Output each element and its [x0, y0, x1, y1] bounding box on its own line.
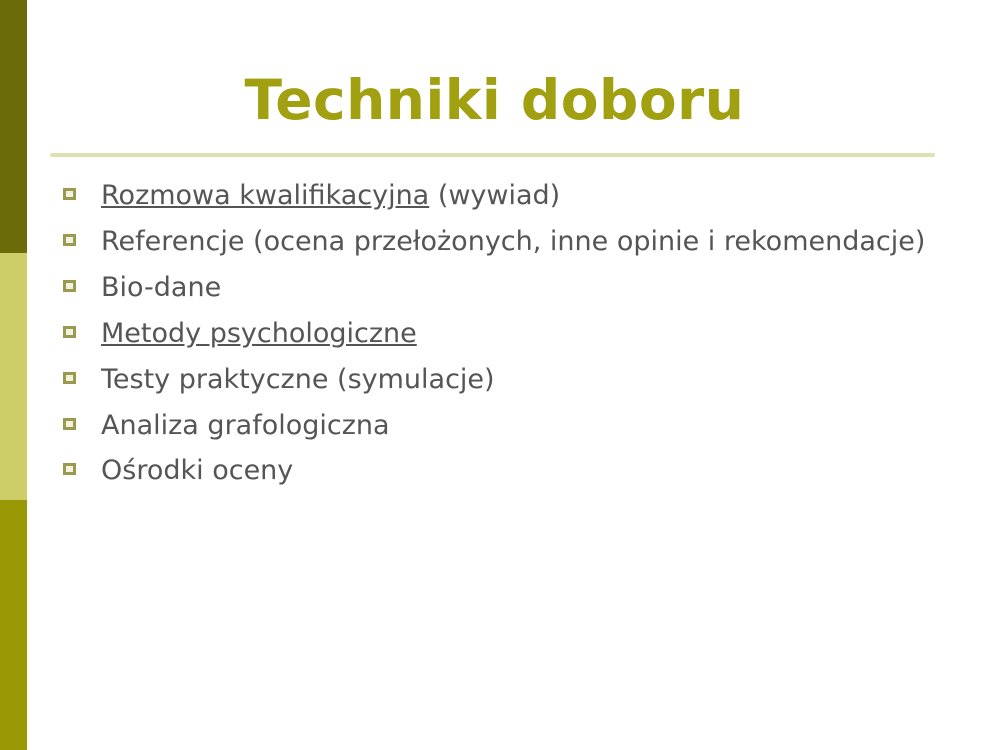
page-title: Techniki doboru — [27, 72, 962, 130]
square-bullet-icon — [63, 280, 76, 292]
list-item-text: Bio-dane — [101, 272, 221, 303]
list-item-plain-text: Bio-dane — [101, 272, 221, 303]
square-bullet-icon — [63, 463, 76, 475]
list-item-plain-text: (wywiad) — [429, 180, 560, 211]
list-item-plain-text: Ośrodki oceny — [101, 455, 293, 486]
list-item-underlined-text: Rozmowa kwalifikacyjna — [101, 180, 429, 211]
square-bullet-icon — [63, 326, 76, 338]
list-item-plain-text: Referencje (ocena przełożonych, inne opi… — [101, 226, 925, 257]
list-item-text: Analiza grafologiczna — [101, 410, 390, 441]
title-divider — [50, 153, 935, 157]
list-item-text: Metody psychologiczne — [101, 318, 417, 349]
list-item-underlined-text: Metody psychologiczne — [101, 318, 417, 349]
list-item-text: Referencje (ocena przełożonych, inne opi… — [101, 226, 925, 257]
list-item: Ośrodki oceny — [57, 453, 960, 489]
list-item: Metody psychologiczne — [57, 316, 960, 352]
sidebar-band-bottom — [0, 500, 27, 750]
square-bullet-icon — [63, 234, 76, 246]
list-item: Testy praktyczne (symulacje) — [57, 362, 960, 398]
sidebar-band-middle — [0, 253, 27, 500]
square-bullet-icon — [63, 188, 76, 200]
bullet-list: Rozmowa kwalifikacyjna (wywiad) Referenc… — [57, 178, 960, 499]
list-item-plain-text: Analiza grafologiczna — [101, 410, 390, 441]
presentation-slide: Techniki doboru Rozmowa kwalifikacyjna (… — [0, 0, 1000, 750]
list-item-plain-text: Testy praktyczne (symulacje) — [101, 364, 495, 395]
list-item: Referencje (ocena przełożonych, inne opi… — [57, 224, 960, 260]
list-item: Analiza grafologiczna — [57, 408, 960, 444]
square-bullet-icon — [63, 418, 76, 430]
list-item: Rozmowa kwalifikacyjna (wywiad) — [57, 178, 960, 214]
sidebar-color-bands — [0, 0, 27, 750]
slide-content: Techniki doboru Rozmowa kwalifikacyjna (… — [27, 0, 1000, 750]
list-item-text: Rozmowa kwalifikacyjna (wywiad) — [101, 180, 560, 211]
list-item-text: Ośrodki oceny — [101, 455, 293, 486]
list-item: Bio-dane — [57, 270, 960, 306]
square-bullet-icon — [63, 372, 76, 384]
sidebar-band-top — [0, 0, 27, 253]
list-item-text: Testy praktyczne (symulacje) — [101, 364, 495, 395]
